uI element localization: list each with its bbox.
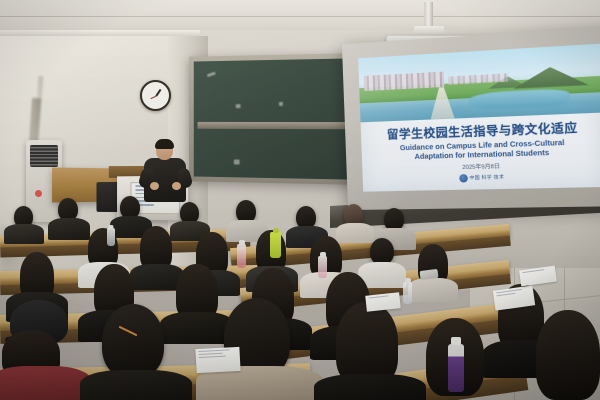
student-shoulders	[80, 370, 192, 400]
blackboard-surface	[194, 58, 351, 179]
student-shoulders	[408, 278, 458, 302]
slide-text-block: 留学生校园生活指导与跨文化适应 Guidance on Campus Life …	[361, 112, 600, 191]
student-head	[102, 304, 164, 378]
handout-paper	[195, 347, 240, 373]
wall-crack-secondary	[34, 76, 44, 146]
chalk-ledge	[198, 122, 357, 129]
purple-water-bottle	[448, 344, 464, 392]
water-bottle	[318, 256, 327, 278]
photo-buildings	[363, 71, 443, 91]
university-seal-icon	[459, 174, 468, 182]
projector-pole	[424, 2, 433, 28]
green-water-bottle	[270, 232, 281, 258]
presenter	[140, 140, 192, 202]
student-head	[536, 310, 600, 400]
ac-vent-grille	[30, 145, 58, 167]
presenter-hand-right	[172, 182, 181, 190]
ceiling-seam	[0, 16, 600, 17]
student-shoulders	[48, 218, 90, 240]
student-shoulders	[314, 374, 426, 400]
presenter-hair	[155, 139, 174, 149]
blackboard	[189, 53, 355, 185]
handout-paper	[365, 292, 400, 311]
student-shoulders	[4, 224, 44, 244]
water-bottle	[237, 244, 246, 268]
student-head	[370, 238, 394, 265]
slide-logo-text: 中国 科学 技术	[469, 174, 504, 181]
slide-logo: 中国 科学 技术	[363, 170, 600, 184]
student-head	[336, 302, 398, 384]
projection-screen: 留学生校园生活指导与跨文化适应 Guidance on Campus Life …	[342, 27, 600, 210]
student-shoulders	[0, 366, 92, 400]
lecture-hall-scene: 留学生校园生活指导与跨文化适应 Guidance on Campus Life …	[0, 0, 600, 400]
presenter-hand-left	[150, 182, 159, 190]
student-shoulders	[160, 312, 234, 344]
slide-campus-photo	[358, 43, 600, 122]
presentation-slide: 留学生校园生活指导与跨文化适应 Guidance on Campus Life …	[358, 43, 600, 191]
photo-walkway	[429, 87, 454, 120]
student-shoulders	[336, 223, 374, 243]
wall-clock-icon	[140, 80, 171, 111]
ac-indicator-light	[35, 190, 42, 197]
water-bottle	[107, 228, 115, 246]
water-bottle	[403, 282, 412, 304]
photo-lake	[468, 88, 569, 110]
